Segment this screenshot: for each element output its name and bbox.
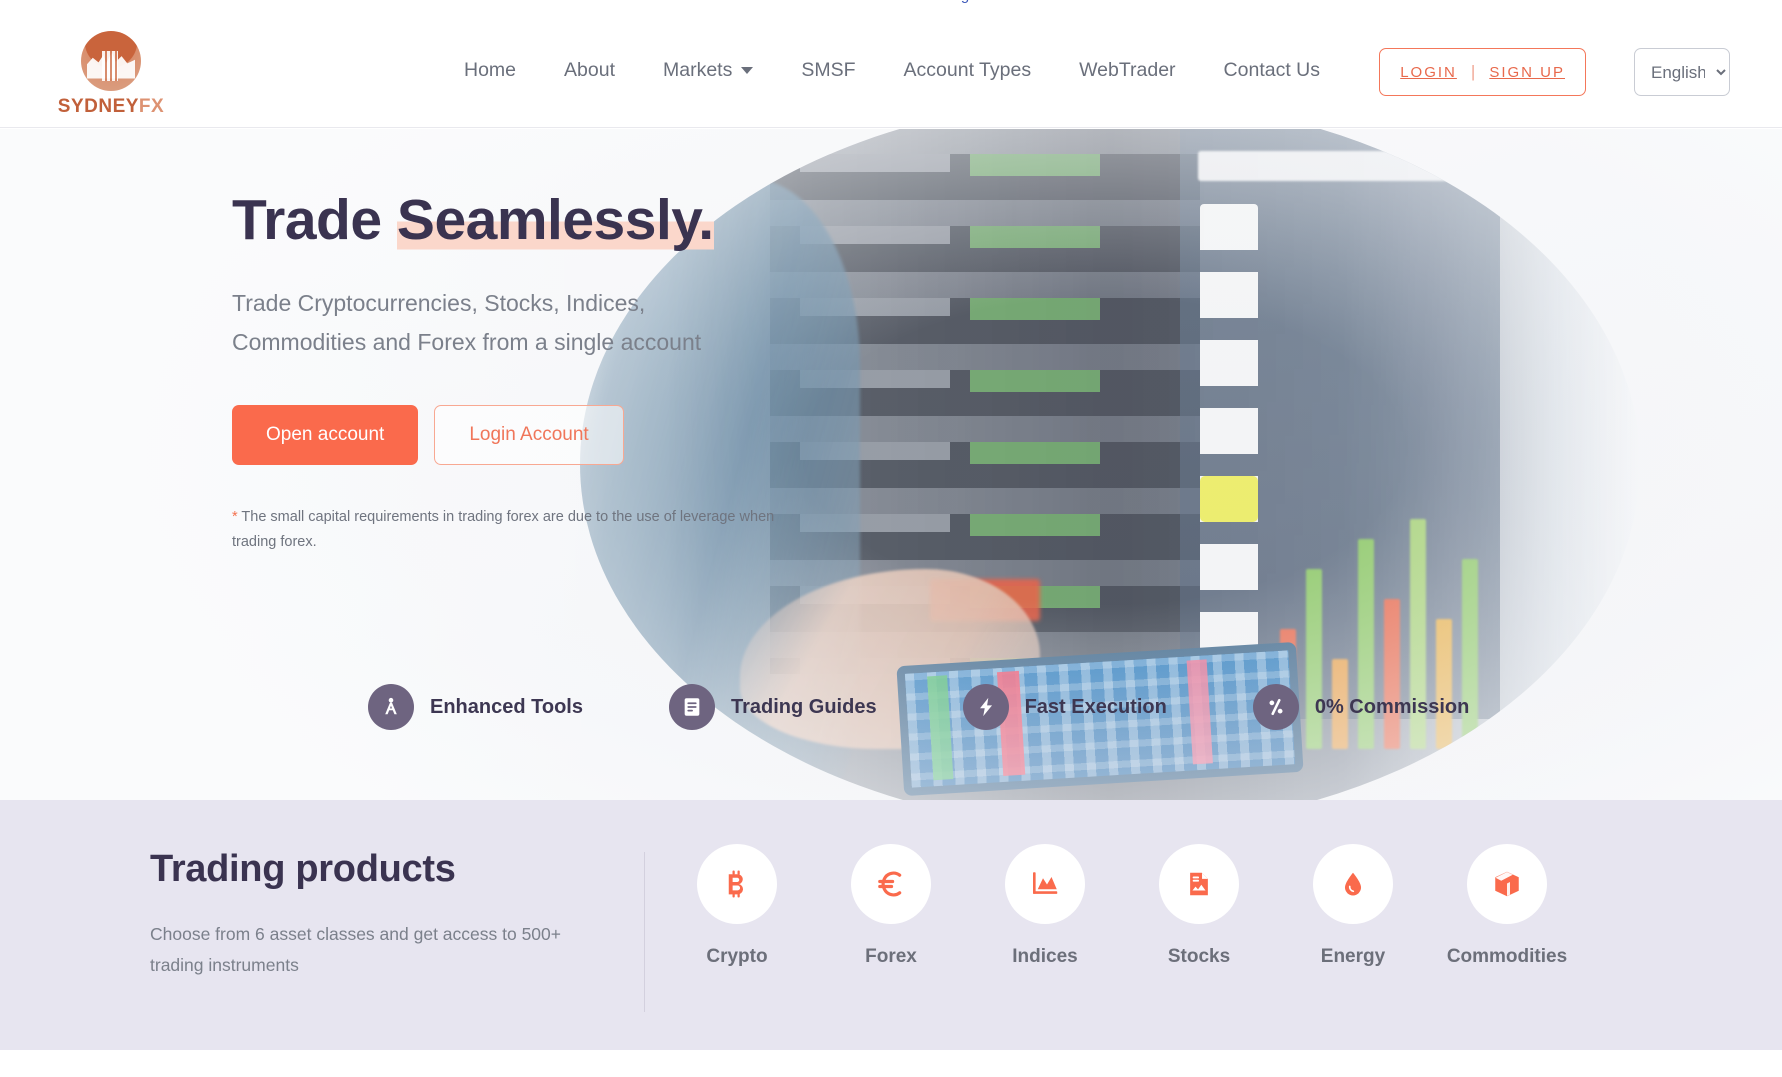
product-item-forex-label: Forex	[865, 946, 917, 968]
euro-icon	[851, 844, 931, 924]
product-item-energy-label: Energy	[1321, 946, 1385, 968]
hero-feature-badges: Enhanced Tools Trading Guides Fast Execu…	[368, 684, 1469, 730]
lightning-icon	[963, 684, 1009, 730]
feature-badge-fast-execution-label: Fast Execution	[1025, 696, 1167, 719]
language-selector[interactable]: English	[1634, 48, 1730, 96]
product-item-forex[interactable]: Forex	[814, 844, 968, 968]
oil-drop-icon	[1313, 844, 1393, 924]
products-list: Crypto Forex Indices	[660, 844, 1584, 968]
hero-cta-group: Open account Login Account	[232, 405, 852, 465]
signup-link[interactable]: SIGN UP	[1489, 64, 1565, 81]
product-item-commodities-label: Commodities	[1447, 946, 1567, 968]
feature-badge-zero-commission-label: 0% Commission	[1315, 696, 1469, 719]
document-chart-icon	[1159, 844, 1239, 924]
products-divider	[644, 852, 645, 1012]
hero-disclaimer: * The small capital requirements in trad…	[232, 505, 780, 556]
sydneyfx-emblem-icon	[81, 31, 141, 91]
product-item-stocks-label: Stocks	[1168, 946, 1230, 968]
product-item-energy[interactable]: Energy	[1276, 844, 1430, 968]
main-navigation: Home About Markets SMSF Account Types We…	[440, 12, 1344, 128]
nav-item-contact-us[interactable]: Contact Us	[1200, 59, 1344, 82]
logo-text-sydney: SYDNEY	[58, 96, 139, 117]
product-item-stocks[interactable]: Stocks	[1122, 844, 1276, 968]
nav-item-contact-us-label: Contact Us	[1224, 59, 1320, 82]
hero-section: Trade Seamlessly. Trade Cryptocurrencies…	[0, 129, 1782, 800]
box-icon	[1467, 844, 1547, 924]
product-item-commodities[interactable]: Commodities	[1430, 844, 1584, 968]
nav-item-home[interactable]: Home	[440, 59, 540, 82]
panel-chip-stack	[1200, 204, 1258, 704]
nav-item-markets-label: Markets	[663, 59, 732, 82]
nav-item-markets[interactable]: Markets	[639, 59, 777, 82]
nav-item-account-types[interactable]: Account Types	[880, 59, 1056, 82]
product-item-crypto-label: Crypto	[706, 946, 767, 968]
promo-strip: Track all markets on TradingView	[0, 0, 1782, 12]
book-icon	[669, 684, 715, 730]
nav-item-smsf[interactable]: SMSF	[777, 59, 879, 82]
bitcoin-icon	[697, 844, 777, 924]
nav-item-smsf-label: SMSF	[801, 59, 855, 82]
products-intro: Trading products Choose from 6 asset cla…	[150, 848, 620, 981]
hero-subtitle: Trade Cryptocurrencies, Stocks, Indices,…	[232, 284, 772, 363]
nav-item-webtrader-label: WebTrader	[1079, 59, 1175, 82]
nav-item-account-types-label: Account Types	[904, 59, 1032, 82]
auth-buttons-group: LOGIN | SIGN UP	[1379, 48, 1586, 96]
area-chart-icon	[1005, 844, 1085, 924]
compass-icon	[368, 684, 414, 730]
hero-headline-highlight: Seamlessly.	[397, 188, 714, 252]
logo-text: SYDNEYFX	[58, 96, 164, 118]
feature-badge-trading-guides[interactable]: Trading Guides	[669, 684, 877, 730]
product-item-indices-label: Indices	[1012, 946, 1077, 968]
products-title: Trading products	[150, 848, 620, 891]
feature-badge-trading-guides-label: Trading Guides	[731, 696, 877, 719]
hero-content: Trade Seamlessly. Trade Cryptocurrencies…	[232, 189, 852, 556]
hero-headline: Trade Seamlessly.	[232, 189, 852, 252]
nav-item-about-label: About	[564, 59, 615, 82]
percent-icon	[1253, 684, 1299, 730]
panel-header-bar	[1198, 151, 1478, 181]
logo[interactable]: SYDNEYFX	[52, 28, 170, 120]
site-header: SYDNEYFX Home About Markets SMSF Account…	[0, 12, 1782, 128]
open-account-button[interactable]: Open account	[232, 405, 418, 465]
tradingview-promo-link[interactable]: Track all markets on TradingView	[0, 0, 1782, 4]
nav-item-home-label: Home	[464, 59, 516, 82]
feature-badge-zero-commission[interactable]: 0% Commission	[1253, 684, 1469, 730]
feature-badge-enhanced-tools-label: Enhanced Tools	[430, 696, 583, 719]
chevron-down-icon	[741, 67, 753, 74]
product-item-crypto[interactable]: Crypto	[660, 844, 814, 968]
auth-separator: |	[1471, 62, 1475, 82]
nav-item-webtrader[interactable]: WebTrader	[1055, 59, 1199, 82]
trading-products-section: Trading products Choose from 6 asset cla…	[0, 800, 1782, 1050]
feature-badge-fast-execution[interactable]: Fast Execution	[963, 684, 1167, 730]
panel-chip-highlighted	[1200, 476, 1258, 522]
login-account-button[interactable]: Login Account	[434, 405, 623, 465]
products-subtitle: Choose from 6 asset classes and get acce…	[150, 919, 570, 981]
login-link[interactable]: LOGIN	[1400, 64, 1457, 81]
disclaimer-text: The small capital requirements in tradin…	[232, 509, 774, 550]
nav-item-about[interactable]: About	[540, 59, 639, 82]
logo-text-fx: FX	[139, 96, 164, 117]
page-bottom-spacer	[0, 1050, 1782, 1077]
feature-badge-enhanced-tools[interactable]: Enhanced Tools	[368, 684, 583, 730]
hero-headline-plain: Trade	[232, 188, 397, 252]
product-item-indices[interactable]: Indices	[968, 844, 1122, 968]
